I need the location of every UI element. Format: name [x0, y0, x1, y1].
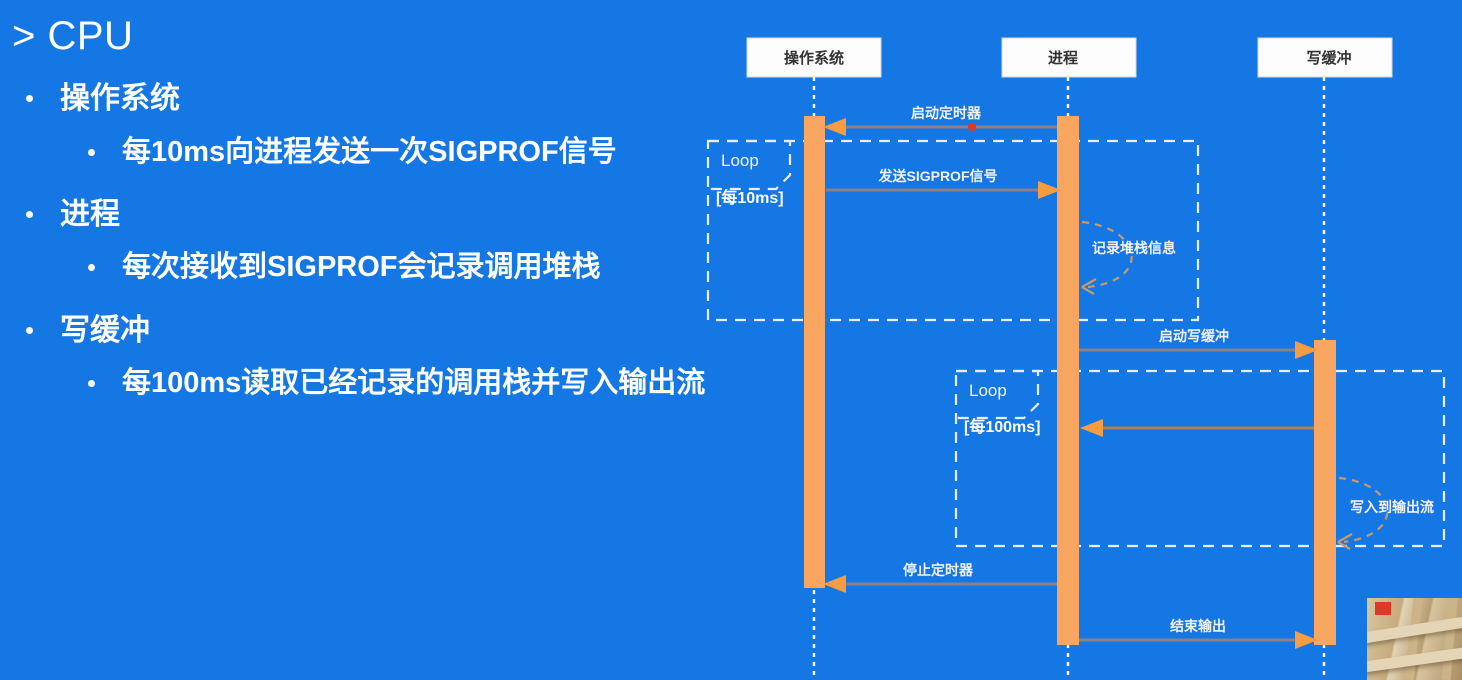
activation-bar-buffer — [1314, 340, 1336, 645]
bullet-level2-1-0-label: 每次接收到SIGPROF会记录调用堆栈 — [122, 251, 601, 283]
message-3-record-stack: 记录堆栈信息 — [1082, 222, 1176, 294]
webcam-video-overlay — [1367, 598, 1462, 680]
message-6-label: 写入到输出流 — [1350, 499, 1434, 515]
bullet-dot-icon — [88, 380, 95, 387]
participant-proc: 进程 — [1002, 38, 1136, 77]
bullet-dot-icon — [26, 327, 33, 334]
bullet-dot-icon — [88, 264, 95, 271]
bullet-level2-2-0-label: 每100ms读取已经记录的调用栈并写入输出流 — [122, 367, 705, 399]
message-1-label: 启动定时器 — [911, 105, 982, 121]
participant-buffer-label: 写缓冲 — [1306, 49, 1351, 67]
participant-os-label: 操作系统 — [784, 49, 844, 67]
bullet-level2-0-0: 每10ms向进程发送一次SIGPROF信号 — [8, 134, 760, 170]
bullet-level2-2-0: 每100ms读取已经记录的调用栈并写入输出流 — [8, 365, 760, 401]
message-3-label: 记录堆栈信息 — [1092, 240, 1176, 256]
participant-os: 操作系统 — [747, 38, 881, 77]
bullet-dot-icon — [26, 95, 33, 102]
fragment-loop1-keyword: Loop — [721, 151, 759, 170]
participant-buffer: 写缓冲 — [1258, 38, 1392, 77]
message-7-stop-timer: 停止定时器 — [823, 562, 1057, 593]
bullet-level1-1: 进程 — [8, 196, 760, 234]
message-8-end-output: 结束输出 — [1079, 618, 1318, 649]
message-4-start-write-buffer: 启动写缓冲 — [1079, 328, 1318, 359]
message-2-label: 发送SIGPROF信号 — [877, 168, 997, 184]
bullet-level1-2: 写缓冲 — [8, 312, 760, 350]
slide-text-pane: > CPU 操作系统 每10ms向进程发送一次SIGPROF信号 进程 每次接收… — [0, 0, 760, 680]
message-1-start-timer: 启动定时器 — [823, 105, 1057, 136]
fragment-loop2-keyword: Loop — [969, 381, 1007, 400]
bullet-dot-icon — [26, 211, 33, 218]
message-4-label: 启动写缓冲 — [1159, 328, 1229, 344]
fragment-loop2: Loop [每100ms] — [956, 371, 1444, 546]
message-marker-dot-icon — [968, 123, 976, 131]
presentation-slide: > CPU 操作系统 每10ms向进程发送一次SIGPROF信号 进程 每次接收… — [0, 0, 1462, 680]
bullet-dot-icon — [88, 149, 95, 156]
participant-proc-label: 进程 — [1048, 50, 1078, 67]
bullet-level1-0: 操作系统 — [8, 80, 760, 118]
bullet-level1-2-label: 写缓冲 — [60, 314, 150, 347]
message-6-write-to-output-stream: 写入到输出流 — [1338, 478, 1434, 549]
bullet-level1-0-label: 操作系统 — [60, 82, 180, 115]
sequence-diagram: Loop [每10ms] Loop [每100ms] 启动定时器 — [690, 0, 1462, 680]
message-7-label: 停止定时器 — [903, 562, 974, 578]
message-8-label: 结束输出 — [1170, 618, 1226, 634]
message-2-send-sigprof: 发送SIGPROF信号 — [826, 168, 1061, 199]
bullet-level1-1-label: 进程 — [60, 198, 120, 231]
red-book-icon — [1375, 602, 1391, 615]
page-title: > CPU — [8, 14, 760, 58]
activation-bar-proc — [1057, 116, 1079, 645]
bullet-list: 操作系统 每10ms向进程发送一次SIGPROF信号 进程 每次接收到SIGPR… — [8, 80, 760, 401]
activation-bar-os — [804, 116, 825, 588]
fragment-loop1-condition: [每10ms] — [716, 188, 784, 207]
fragment-loop2-condition: [每100ms] — [964, 417, 1040, 436]
bullet-level2-0-0-label: 每10ms向进程发送一次SIGPROF信号 — [122, 136, 617, 168]
bullet-level2-1-0: 每次接收到SIGPROF会记录调用堆栈 — [8, 249, 760, 285]
message-5-return-to-process — [1080, 419, 1314, 437]
